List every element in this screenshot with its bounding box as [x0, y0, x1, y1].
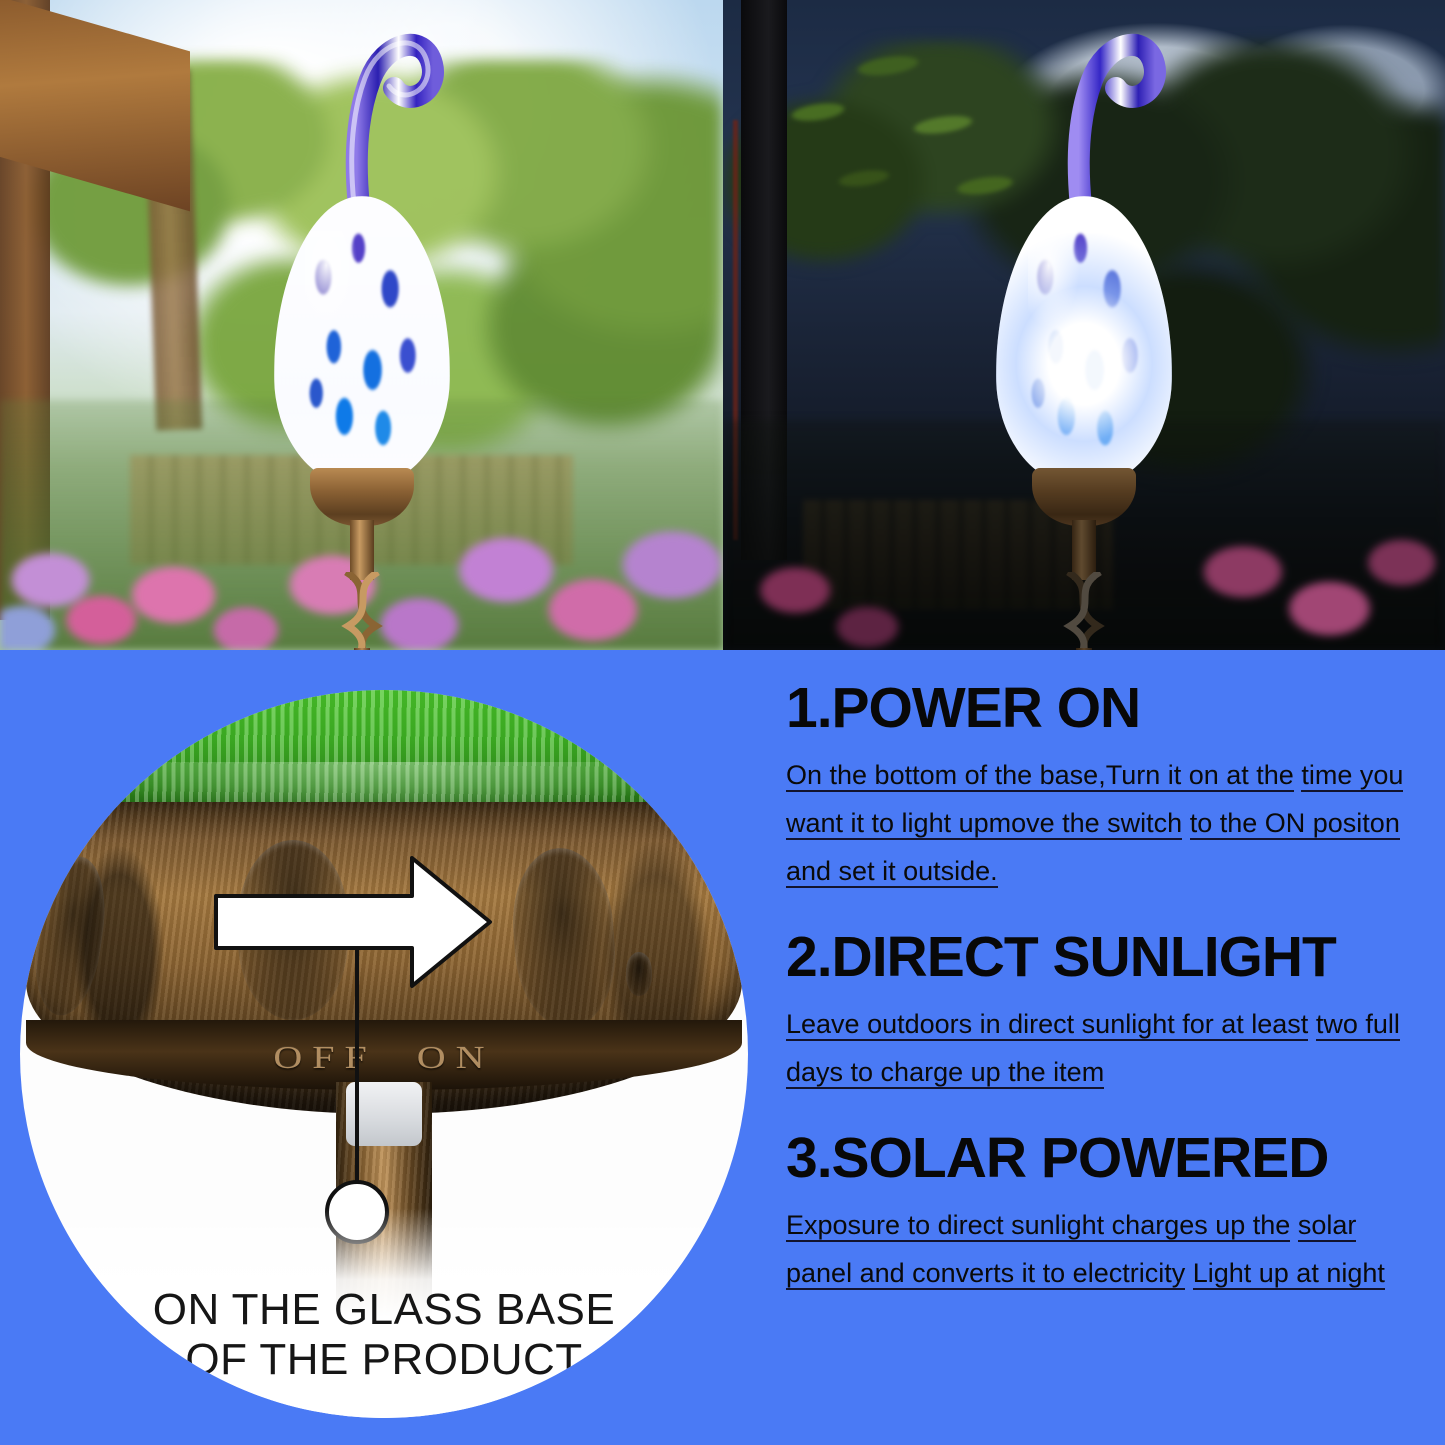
step-3-heading: 3.SOLAR POWERED	[786, 1130, 1426, 1187]
glass-flame-lamp-day	[252, 0, 472, 650]
step-3-line-1: Exposure to direct sunlight charges up t…	[786, 1210, 1290, 1242]
base-dimple	[27, 852, 113, 1019]
off-label: OFF	[273, 1040, 376, 1075]
bronze-collar	[310, 468, 414, 526]
bronze-stem-night	[1072, 520, 1096, 580]
daytime-product-photo	[0, 0, 723, 650]
step-1-body: On the bottom of the base,Turn it on at …	[786, 751, 1426, 895]
base-dimple	[238, 840, 348, 1020]
green-glass-band	[20, 690, 748, 814]
step-solar-powered: 3.SOLAR POWERED Exposure to direct sunli…	[786, 1130, 1426, 1297]
bronze-stem	[350, 520, 374, 580]
base-dimple	[508, 845, 620, 1032]
step-1-heading: 1.POWER ON	[786, 680, 1426, 737]
glass-flame-lamp-night	[974, 0, 1194, 650]
twisted-metal-stake	[332, 572, 392, 650]
inset-caption-line-1: ON THE GLASS BASE	[20, 1285, 748, 1334]
step-2-heading: 2.DIRECT SUNLIGHT	[786, 929, 1426, 986]
photo-strip	[0, 0, 1445, 650]
base-dimple	[626, 952, 652, 996]
step-3-line-3: Light up at night	[1193, 1258, 1385, 1290]
step-2-body: Leave outdoors in direct sunlight for at…	[786, 1000, 1426, 1096]
twisted-metal-stake-night	[1054, 572, 1114, 650]
step-direct-sunlight: 2.DIRECT SUNLIGHT Leave outdoors in dire…	[786, 929, 1426, 1096]
steps-column: 1.POWER ON On the bottom of the base,Tur…	[786, 680, 1426, 1331]
inset-caption-line-2: OF THE PRODUCT	[20, 1335, 748, 1384]
inset-caption: ON THE GLASS BASE OF THE PRODUCT	[20, 1285, 748, 1384]
nighttime-product-photo	[723, 0, 1445, 650]
step-1-line-1: On the bottom of the base,Turn it on at …	[786, 760, 1294, 792]
product-infographic: OFF ON ON THE GLASS BASE OF THE PRODUCT	[0, 0, 1445, 1445]
glass-flame-bulb	[274, 196, 450, 486]
step-3-body: Exposure to direct sunlight charges up t…	[786, 1201, 1426, 1297]
step-2-line-1: Leave outdoors in direct sunlight for at…	[786, 1009, 1308, 1041]
switch-closeup-inset: OFF ON ON THE GLASS BASE OF THE PRODUCT	[20, 690, 748, 1418]
bronze-collar-night	[1032, 468, 1136, 526]
power-switch[interactable]	[346, 1082, 422, 1146]
step-power-on: 1.POWER ON On the bottom of the base,Tur…	[786, 680, 1426, 895]
off-on-label: OFF ON	[20, 1039, 748, 1076]
on-label: ON	[417, 1040, 495, 1075]
glass-flame-bulb-lit	[996, 196, 1172, 486]
instructions-section: OFF ON ON THE GLASS BASE OF THE PRODUCT	[0, 650, 1445, 1445]
